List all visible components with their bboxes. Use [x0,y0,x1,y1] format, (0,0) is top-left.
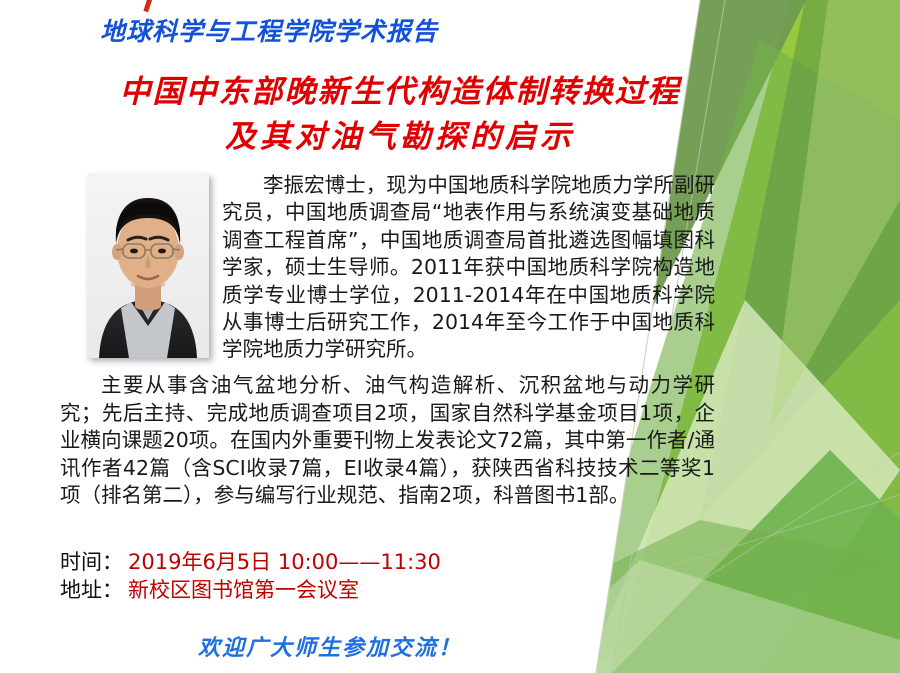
subject-line: 地球科学与工程学院学术报告 [100,12,438,48]
event-time-value: 2019年6月5日 10:00——11:30 [128,550,441,574]
decorative-red-tick-icon [143,0,153,12]
event-address-value: 新校区图书馆第一会议室 [128,578,359,602]
event-time-label: 时间： [60,550,123,574]
event-address-label: 地址： [60,578,123,602]
bio-paragraph-1: 李振宏博士，现为中国地质科学院地质力学所副研究员，中国地质调查局“地表作用与系统… [222,172,715,364]
talk-title-line-2: 及其对油气勘探的启示 [90,115,710,160]
speaker-portrait [87,174,209,358]
event-details: 时间：2019年6月5日 10:00——11:30 地址：新校区图书馆第一会议室 [60,548,441,604]
talk-title: 中国中东部晚新生代构造体制转换过程 及其对油气勘探的启示 [90,70,710,160]
event-time-row: 时间：2019年6月5日 10:00——11:30 [60,548,441,576]
poster-content: 地球科学与工程学院学术报告 中国中东部晚新生代构造体制转换过程 及其对油气勘探的… [0,0,900,673]
event-address-row: 地址：新校区图书馆第一会议室 [60,576,441,604]
speaker-portrait-image [87,174,209,358]
poster-canvas: 地球科学与工程学院学术报告 中国中东部晚新生代构造体制转换过程 及其对油气勘探的… [0,0,900,673]
talk-title-line-1: 中国中东部晚新生代构造体制转换过程 [90,70,710,115]
bio-paragraph-2: 主要从事含油气盆地分析、油气构造解析、沉积盆地与动力学研究；先后主持、完成地质调… [60,372,715,510]
welcome-message: 欢迎广大师生参加交流！ [0,630,660,662]
